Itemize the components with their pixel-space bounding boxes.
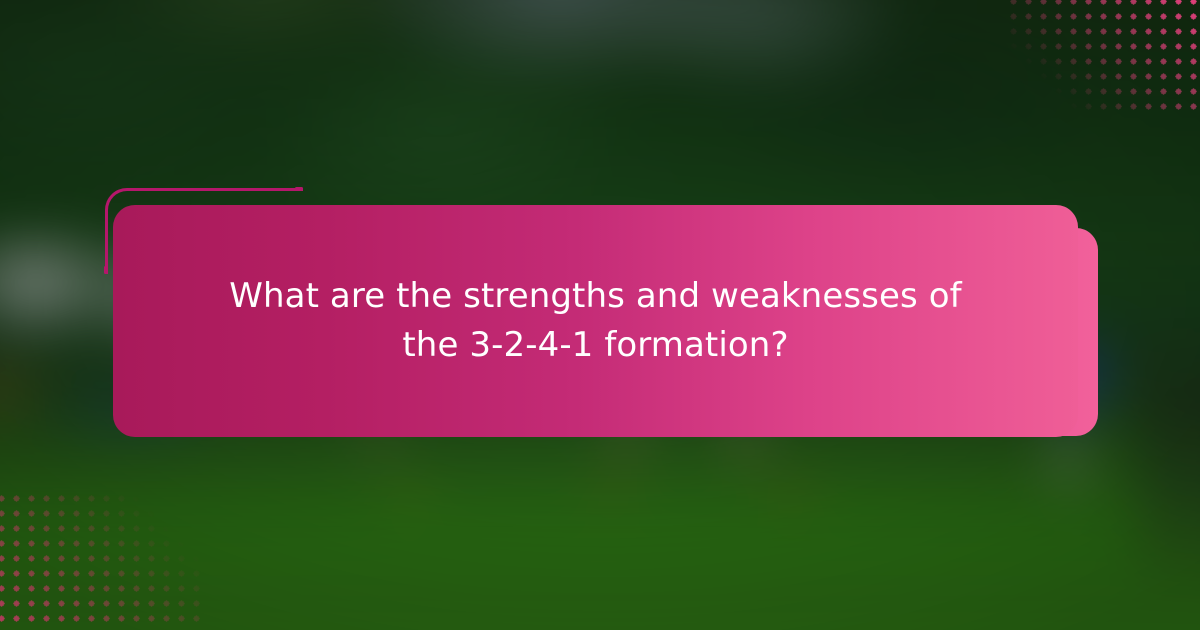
question-text: What are the strengths and weaknesses of…	[201, 272, 991, 371]
question-card: What are the strengths and weaknesses of…	[113, 205, 1078, 437]
corner-bracket-cap-vertical	[104, 266, 108, 274]
question-card-group: What are the strengths and weaknesses of…	[0, 0, 1200, 630]
corner-bracket-cap-horizontal	[295, 187, 303, 191]
share-card-canvas: What are the strengths and weaknesses of…	[0, 0, 1200, 630]
